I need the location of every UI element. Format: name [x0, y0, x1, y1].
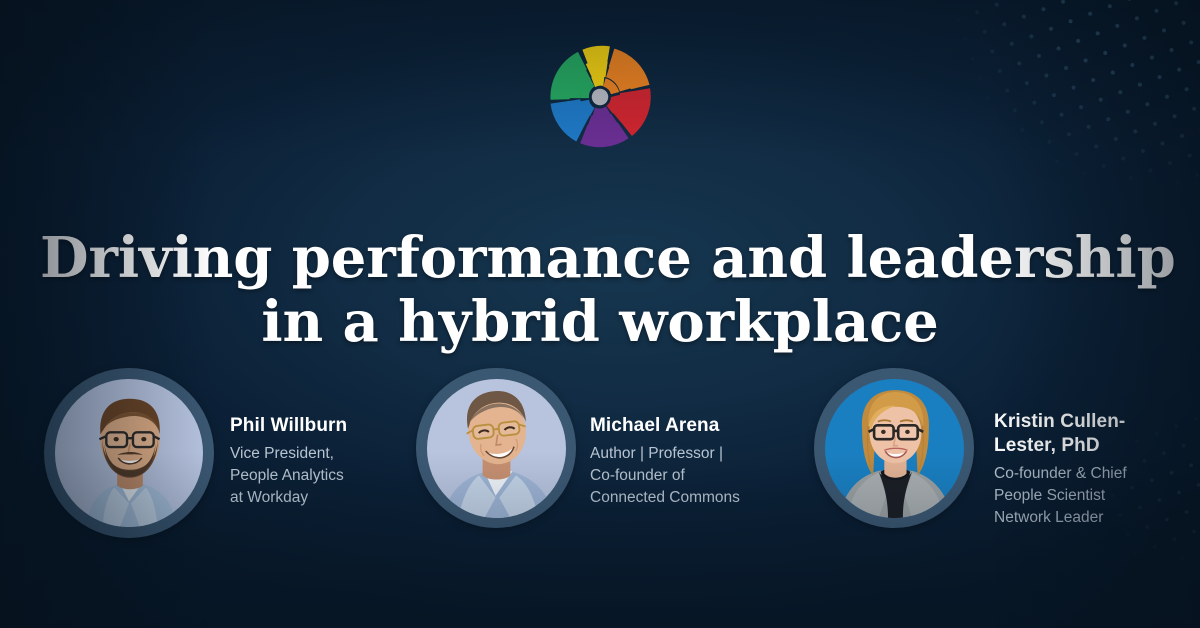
speaker-card-kristin-cullen-lester: Kristin Cullen- Lester, PhD Co-founder &…: [814, 368, 1166, 529]
speaker-info: Michael Arena Author | Professor | Co-fo…: [576, 368, 740, 509]
speaker-info: Kristin Cullen- Lester, PhD Co-founder &…: [974, 368, 1127, 529]
speaker-role-line: Co-founder of: [590, 465, 740, 487]
avatar-kristin-cullen-lester: [825, 379, 964, 518]
speaker-role-line: at Workday: [230, 487, 347, 509]
speaker-name-line: Kristin Cullen-: [994, 410, 1127, 434]
webinar-promo-banner: Driving performance and leadership in a …: [0, 0, 1200, 628]
speaker-name-line: Lester, PhD: [994, 434, 1127, 458]
speaker-name: Michael Arena: [590, 414, 740, 438]
speaker-role-line: Vice President,: [230, 443, 347, 465]
speaker-role: Author | Professor | Co-founder of Conne…: [590, 443, 740, 509]
speaker-role-line: People Analytics: [230, 465, 347, 487]
speaker-list: Phil Willburn Vice President, People Ana…: [0, 368, 1200, 553]
logo-container: [0, 42, 1200, 152]
speaker-role-line: Co-founder & Chief: [994, 463, 1127, 485]
page-title: Driving performance and leadership in a …: [0, 226, 1200, 356]
portrait-phil-willburn: [55, 379, 203, 527]
pinwheel-color-wheel-logo: [545, 42, 655, 152]
avatar-phil-willburn: [55, 379, 203, 527]
speaker-name: Kristin Cullen- Lester, PhD: [994, 410, 1127, 458]
speaker-role-line: Network Leader: [994, 507, 1127, 529]
logo-segment-orange: [603, 49, 649, 95]
speaker-role-line: Author | Professor |: [590, 443, 740, 465]
avatar-ring: [814, 368, 974, 528]
speaker-role-line: People Scientist: [994, 485, 1127, 507]
speaker-role-line: Connected Commons: [590, 487, 740, 509]
portrait-michael-arena: [427, 379, 566, 518]
speaker-role: Vice President, People Analytics at Work…: [230, 443, 347, 509]
page-title-line-2: in a hybrid workplace: [40, 290, 1160, 355]
speaker-role: Co-founder & Chief People Scientist Netw…: [994, 463, 1127, 529]
speaker-name: Phil Willburn: [230, 414, 347, 438]
avatar-michael-arena: [427, 379, 566, 518]
logo-center-hub: [592, 89, 609, 106]
speaker-card-michael-arena: Michael Arena Author | Professor | Co-fo…: [416, 368, 814, 528]
portrait-kristin-cullen-lester: [825, 379, 964, 518]
speaker-card-phil-willburn: Phil Willburn Vice President, People Ana…: [44, 368, 416, 538]
page-title-line-1: Driving performance and leadership: [40, 226, 1160, 291]
avatar-ring: [44, 368, 214, 538]
avatar-ring: [416, 368, 576, 528]
speaker-info: Phil Willburn Vice President, People Ana…: [214, 368, 347, 509]
